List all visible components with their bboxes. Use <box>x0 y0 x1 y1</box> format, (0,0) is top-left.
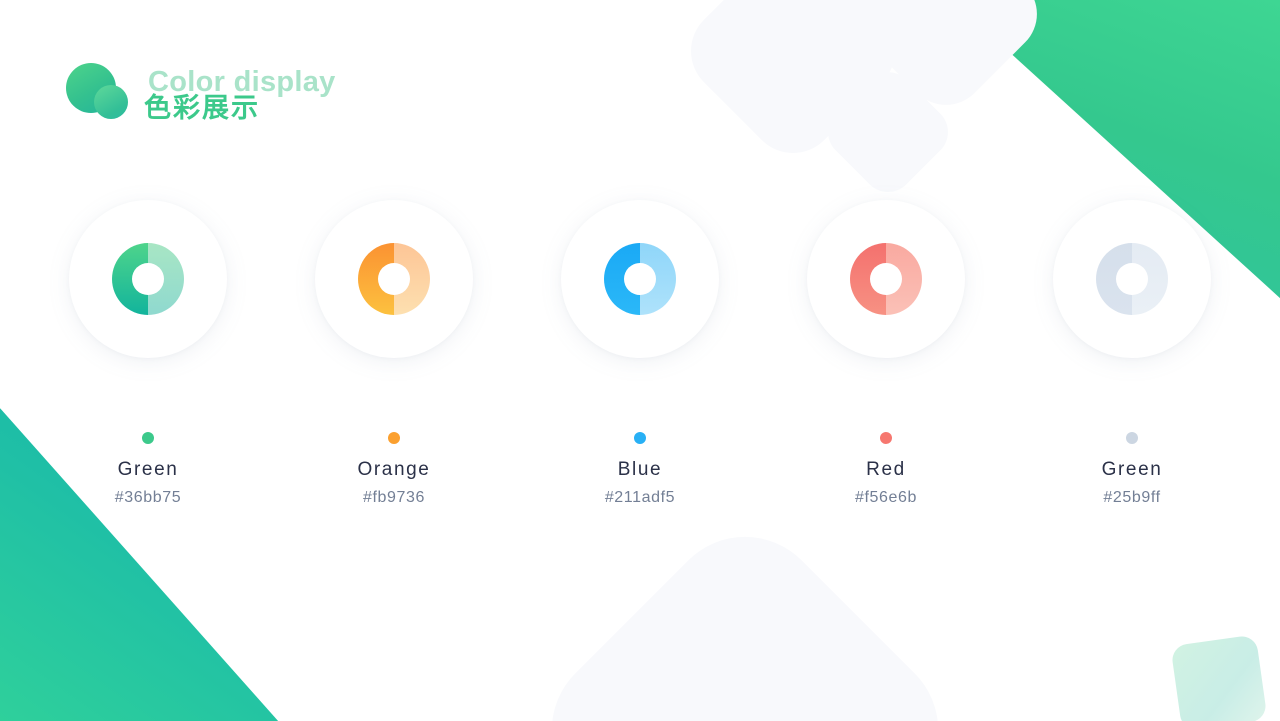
color-swatch-row: Green#36bb75Orange#fb9736Blue#211adf5Red… <box>0 200 1280 507</box>
decor-mint-square <box>1170 634 1267 721</box>
donut-chart-icon <box>850 243 922 315</box>
logo-circle-small <box>94 85 128 119</box>
swatch-disc[interactable] <box>561 200 719 358</box>
donut-chart-icon <box>1096 243 1168 315</box>
color-swatch[interactable]: Red#f56e6b <box>807 200 965 507</box>
swatch-name: Orange <box>358 459 431 481</box>
donut-hole <box>624 263 656 295</box>
swatch-dot <box>1126 432 1138 444</box>
decor-square-3 <box>817 61 958 202</box>
swatch-name: Green <box>1102 459 1163 481</box>
decor-square-2 <box>839 0 1054 121</box>
brand-circles-logo-icon <box>66 60 132 122</box>
color-swatch[interactable]: Blue#211adf5 <box>561 200 719 507</box>
donut-chart-icon <box>112 243 184 315</box>
color-swatch[interactable]: Green#25b9ff <box>1053 200 1211 507</box>
swatch-name: Red <box>866 459 906 481</box>
page-title: Color display 色彩展示 <box>144 60 444 120</box>
swatch-disc[interactable] <box>807 200 965 358</box>
swatch-dot <box>880 432 892 444</box>
page-header: Color display 色彩展示 <box>66 60 444 122</box>
swatch-hex: #25b9ff <box>1103 489 1160 507</box>
swatch-name: Green <box>118 459 179 481</box>
swatch-hex: #211adf5 <box>605 489 675 507</box>
page-title-chinese: 色彩展示 <box>144 86 260 125</box>
donut-chart-icon <box>604 243 676 315</box>
decor-square-1 <box>673 0 913 171</box>
color-swatch[interactable]: Green#36bb75 <box>69 200 227 507</box>
swatch-hex: #36bb75 <box>115 489 182 507</box>
donut-hole <box>1116 263 1148 295</box>
donut-hole <box>378 263 410 295</box>
swatch-disc[interactable] <box>315 200 473 358</box>
donut-hole <box>132 263 164 295</box>
color-swatch[interactable]: Orange#fb9736 <box>315 200 473 507</box>
swatch-dot <box>388 432 400 444</box>
swatch-dot <box>634 432 646 444</box>
decor-square-bottom <box>519 504 972 721</box>
swatch-name: Blue <box>618 459 662 481</box>
swatch-hex: #f56e6b <box>855 489 917 507</box>
swatch-hex: #fb9736 <box>363 489 425 507</box>
donut-hole <box>870 263 902 295</box>
swatch-disc[interactable] <box>69 200 227 358</box>
swatch-disc[interactable] <box>1053 200 1211 358</box>
swatch-dot <box>142 432 154 444</box>
donut-chart-icon <box>358 243 430 315</box>
